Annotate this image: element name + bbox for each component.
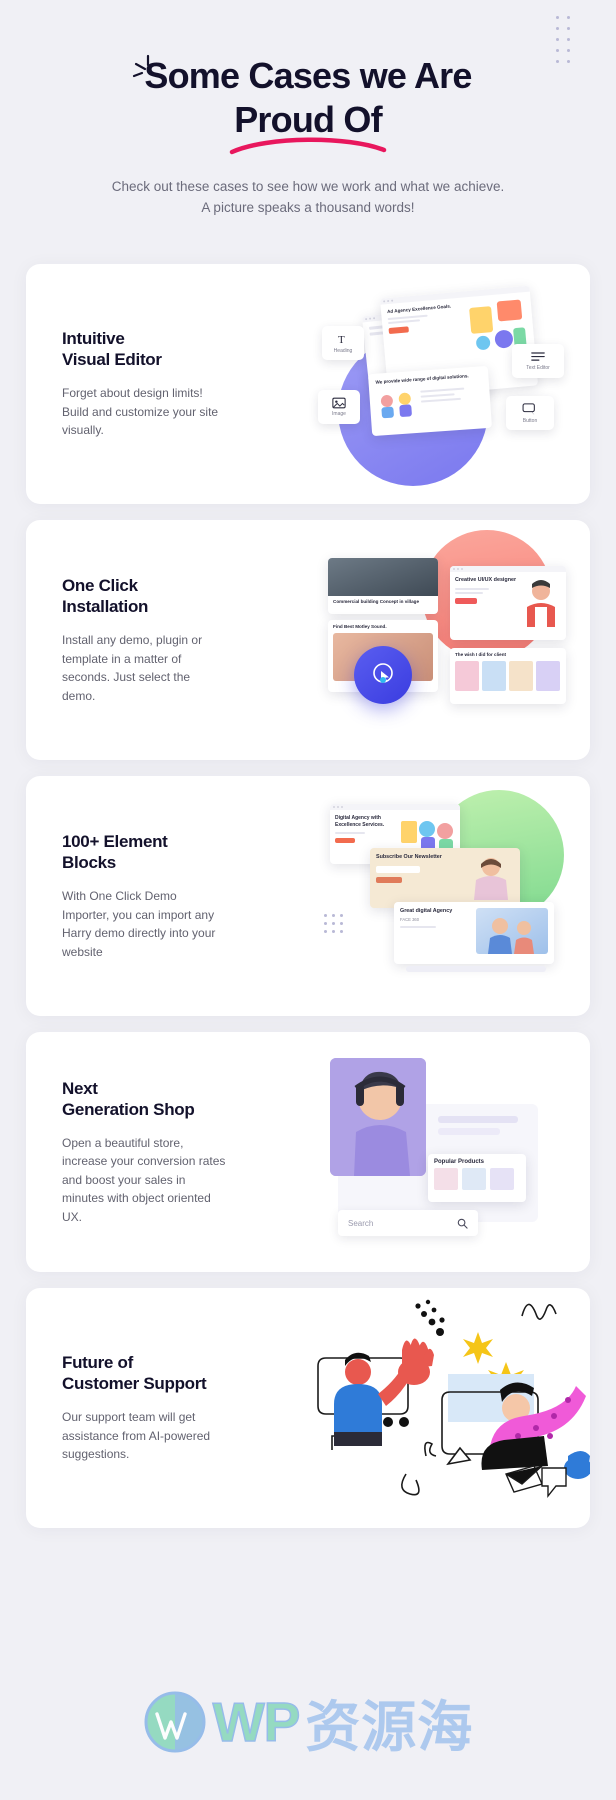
card-description: Install any demo, plugin or template in … bbox=[62, 631, 226, 705]
text-editor-icon bbox=[530, 351, 546, 363]
art-caption: The wish I did for client bbox=[450, 648, 566, 661]
feature-card-list: Intuitive Visual Editor Forget about des… bbox=[0, 264, 616, 1528]
art-caption: Digital Agency with Excellence Services. bbox=[335, 815, 397, 828]
one-click-install-button[interactable] bbox=[354, 646, 412, 704]
art-caption: Creative UI/UX designer bbox=[455, 577, 517, 584]
card-description: Forget about design limits! Build and cu… bbox=[62, 384, 226, 440]
search-input[interactable]: Search bbox=[348, 1219, 373, 1228]
popup-title: Popular Products bbox=[428, 1154, 526, 1168]
svg-text:T: T bbox=[338, 334, 345, 346]
sparkle-icon bbox=[126, 52, 166, 92]
card-illustration-shop: Popular Products Search bbox=[310, 1032, 590, 1272]
art-headline: Ad Agency Excellence Goals. bbox=[387, 303, 462, 316]
watermark-cn-text: 资源海 bbox=[305, 1682, 473, 1762]
card-text-block: Future of Customer Support Our support t… bbox=[26, 1352, 226, 1464]
card-title: Future of Customer Support bbox=[62, 1352, 226, 1394]
card-title: 100+ Element Blocks bbox=[62, 831, 226, 873]
popular-products-popup[interactable]: Popular Products bbox=[428, 1154, 526, 1202]
art-caption: Commercial building Concept in village bbox=[328, 596, 438, 608]
cursor-click-icon bbox=[370, 662, 396, 688]
card-illustration-blocks: Digital Agency with Excellence Services. bbox=[310, 776, 590, 1016]
page-title-line1: Some Cases we Are bbox=[144, 54, 471, 98]
heading-icon: T bbox=[336, 332, 350, 346]
page-title: Some Cases we Are Proud Of bbox=[144, 54, 471, 142]
page-subtitle-line2: A picture speaks a thousand words! bbox=[0, 197, 616, 218]
feature-card-one-click-installation[interactable]: One Click Installation Install any demo,… bbox=[26, 520, 590, 760]
card-description: Open a beautiful store, increase your co… bbox=[62, 1134, 226, 1227]
feature-card-customer-support[interactable]: Future of Customer Support Our support t… bbox=[26, 1288, 590, 1528]
product-photo bbox=[330, 1058, 426, 1176]
card-text-block: Next Generation Shop Open a beautiful st… bbox=[26, 1078, 226, 1227]
card-text-block: Intuitive Visual Editor Forget about des… bbox=[26, 328, 226, 440]
feature-card-element-blocks[interactable]: 100+ Element Blocks With One Click Demo … bbox=[26, 776, 590, 1016]
button-icon bbox=[522, 403, 538, 416]
art-caption: Subscribe Our Newsletter bbox=[376, 854, 463, 861]
search-icon[interactable] bbox=[457, 1218, 468, 1229]
card-description: With One Click Demo Importer, you can im… bbox=[62, 887, 226, 961]
chip-button[interactable]: Button bbox=[506, 396, 554, 430]
chip-image[interactable]: Image bbox=[318, 390, 360, 424]
card-text-block: 100+ Element Blocks With One Click Demo … bbox=[26, 831, 226, 961]
chip-label: Text Editor bbox=[526, 365, 550, 371]
card-description: Our support team will get assistance fro… bbox=[62, 1408, 226, 1464]
page-subtitle: Check out these cases to see how we work… bbox=[0, 176, 616, 218]
watermark-wp-text: WP bbox=[213, 1690, 300, 1754]
chip-label: Image bbox=[332, 411, 346, 417]
page-subtitle-line1: Check out these cases to see how we work… bbox=[0, 176, 616, 197]
search-bar[interactable]: Search bbox=[338, 1210, 478, 1236]
card-text-block: One Click Installation Install any demo,… bbox=[26, 575, 226, 705]
card-illustration-support bbox=[310, 1288, 590, 1528]
chip-text-editor[interactable]: Text Editor bbox=[512, 344, 564, 378]
card-title: One Click Installation bbox=[62, 575, 226, 617]
site-watermark: WP 资源海 bbox=[0, 1682, 616, 1762]
wordpress-logo-icon bbox=[143, 1690, 207, 1754]
card-title: Intuitive Visual Editor bbox=[62, 328, 226, 370]
feature-card-next-generation-shop[interactable]: Next Generation Shop Open a beautiful st… bbox=[26, 1032, 590, 1272]
card-illustration-installation: Commercial building Concept in village F… bbox=[310, 520, 590, 760]
chip-label: Button bbox=[523, 418, 537, 424]
title-underline-icon bbox=[228, 134, 388, 156]
art-caption: Great digital Agency bbox=[400, 908, 470, 915]
decorative-dot-grid-small bbox=[324, 914, 343, 938]
art-caption-sub: FACE 360 bbox=[400, 917, 470, 922]
decorative-dot-grid bbox=[556, 16, 570, 71]
card-title: Next Generation Shop bbox=[62, 1078, 226, 1120]
image-icon bbox=[332, 397, 346, 409]
art-caption: Find Best Motley Sound. bbox=[328, 620, 438, 633]
feature-card-visual-editor[interactable]: Intuitive Visual Editor Forget about des… bbox=[26, 264, 590, 504]
support-illustration-icon bbox=[310, 1288, 590, 1528]
page-header: Some Cases we Are Proud Of Check out the… bbox=[0, 0, 616, 218]
chip-label: Heading bbox=[334, 348, 353, 354]
chip-heading[interactable]: T Heading bbox=[322, 326, 364, 360]
card-illustration-visual-editor: Ad Agency Excellence Goals. bbox=[310, 264, 590, 504]
